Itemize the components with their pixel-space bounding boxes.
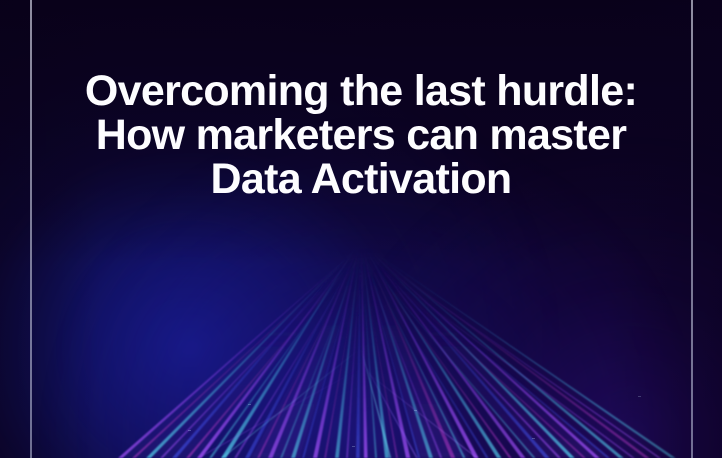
page-title: Overcoming the last hurdle: How marketer… <box>0 69 722 201</box>
title-slide: Overcoming the last hurdle: How marketer… <box>0 0 722 458</box>
title-line-1: Overcoming the last hurdle: <box>0 69 722 113</box>
title-line-3: Data Activation <box>0 157 722 201</box>
title-line-2: How marketers can master <box>0 113 722 157</box>
